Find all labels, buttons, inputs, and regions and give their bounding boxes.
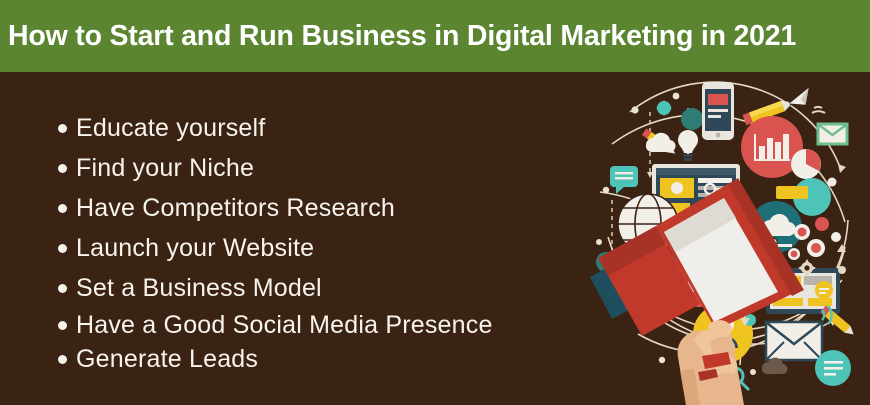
list-item-label: Set a Business Model xyxy=(76,276,322,301)
paper-plane-icon xyxy=(787,88,815,111)
bullet-icon xyxy=(58,321,67,330)
list-item-label: Have Competitors Research xyxy=(76,196,395,221)
tips-list: Educate yourself Find your Niche Have Co… xyxy=(0,72,620,405)
bullet-icon xyxy=(58,355,67,364)
bullet-icon xyxy=(58,204,67,213)
banner-header: How to Start and Run Business in Digital… xyxy=(0,0,870,72)
bullet-icon xyxy=(58,164,67,173)
digital-marketing-illustration xyxy=(590,72,870,405)
bullet-icon xyxy=(58,244,67,253)
bullet-icon xyxy=(58,124,67,133)
list-item-label: Generate Leads xyxy=(76,347,258,372)
list-item-label: Have a Good Social Media Presence xyxy=(76,313,493,338)
gear-icon xyxy=(657,101,671,115)
yellow-bar-icon xyxy=(776,186,808,199)
smartphone-icon xyxy=(702,82,734,140)
list-item-label: Educate yourself xyxy=(76,116,265,141)
speech-bubble-icon xyxy=(815,350,851,386)
list-item: Set a Business Model xyxy=(58,273,322,303)
list-item: Have Competitors Research xyxy=(58,193,395,223)
digital-marketing-banner: How to Start and Run Business in Digital… xyxy=(0,0,870,405)
lightbulb-icon xyxy=(678,130,698,161)
bullet-icon xyxy=(58,284,67,293)
list-item: Educate yourself xyxy=(58,113,265,143)
pie-chart-icon xyxy=(791,149,821,179)
page-title: How to Start and Run Business in Digital… xyxy=(0,22,796,51)
list-item: Generate Leads xyxy=(58,344,258,374)
envelope-green-icon xyxy=(818,124,847,144)
envelope-icon xyxy=(766,322,822,360)
signal-icon xyxy=(812,107,825,113)
list-item: Launch your Website xyxy=(58,233,314,263)
list-item: Find your Niche xyxy=(58,153,254,183)
list-item: Have a Good Social Media Presence xyxy=(58,310,493,340)
teal-dot-icon xyxy=(681,108,703,130)
list-item-label: Launch your Website xyxy=(76,236,314,261)
list-item-label: Find your Niche xyxy=(76,156,254,181)
